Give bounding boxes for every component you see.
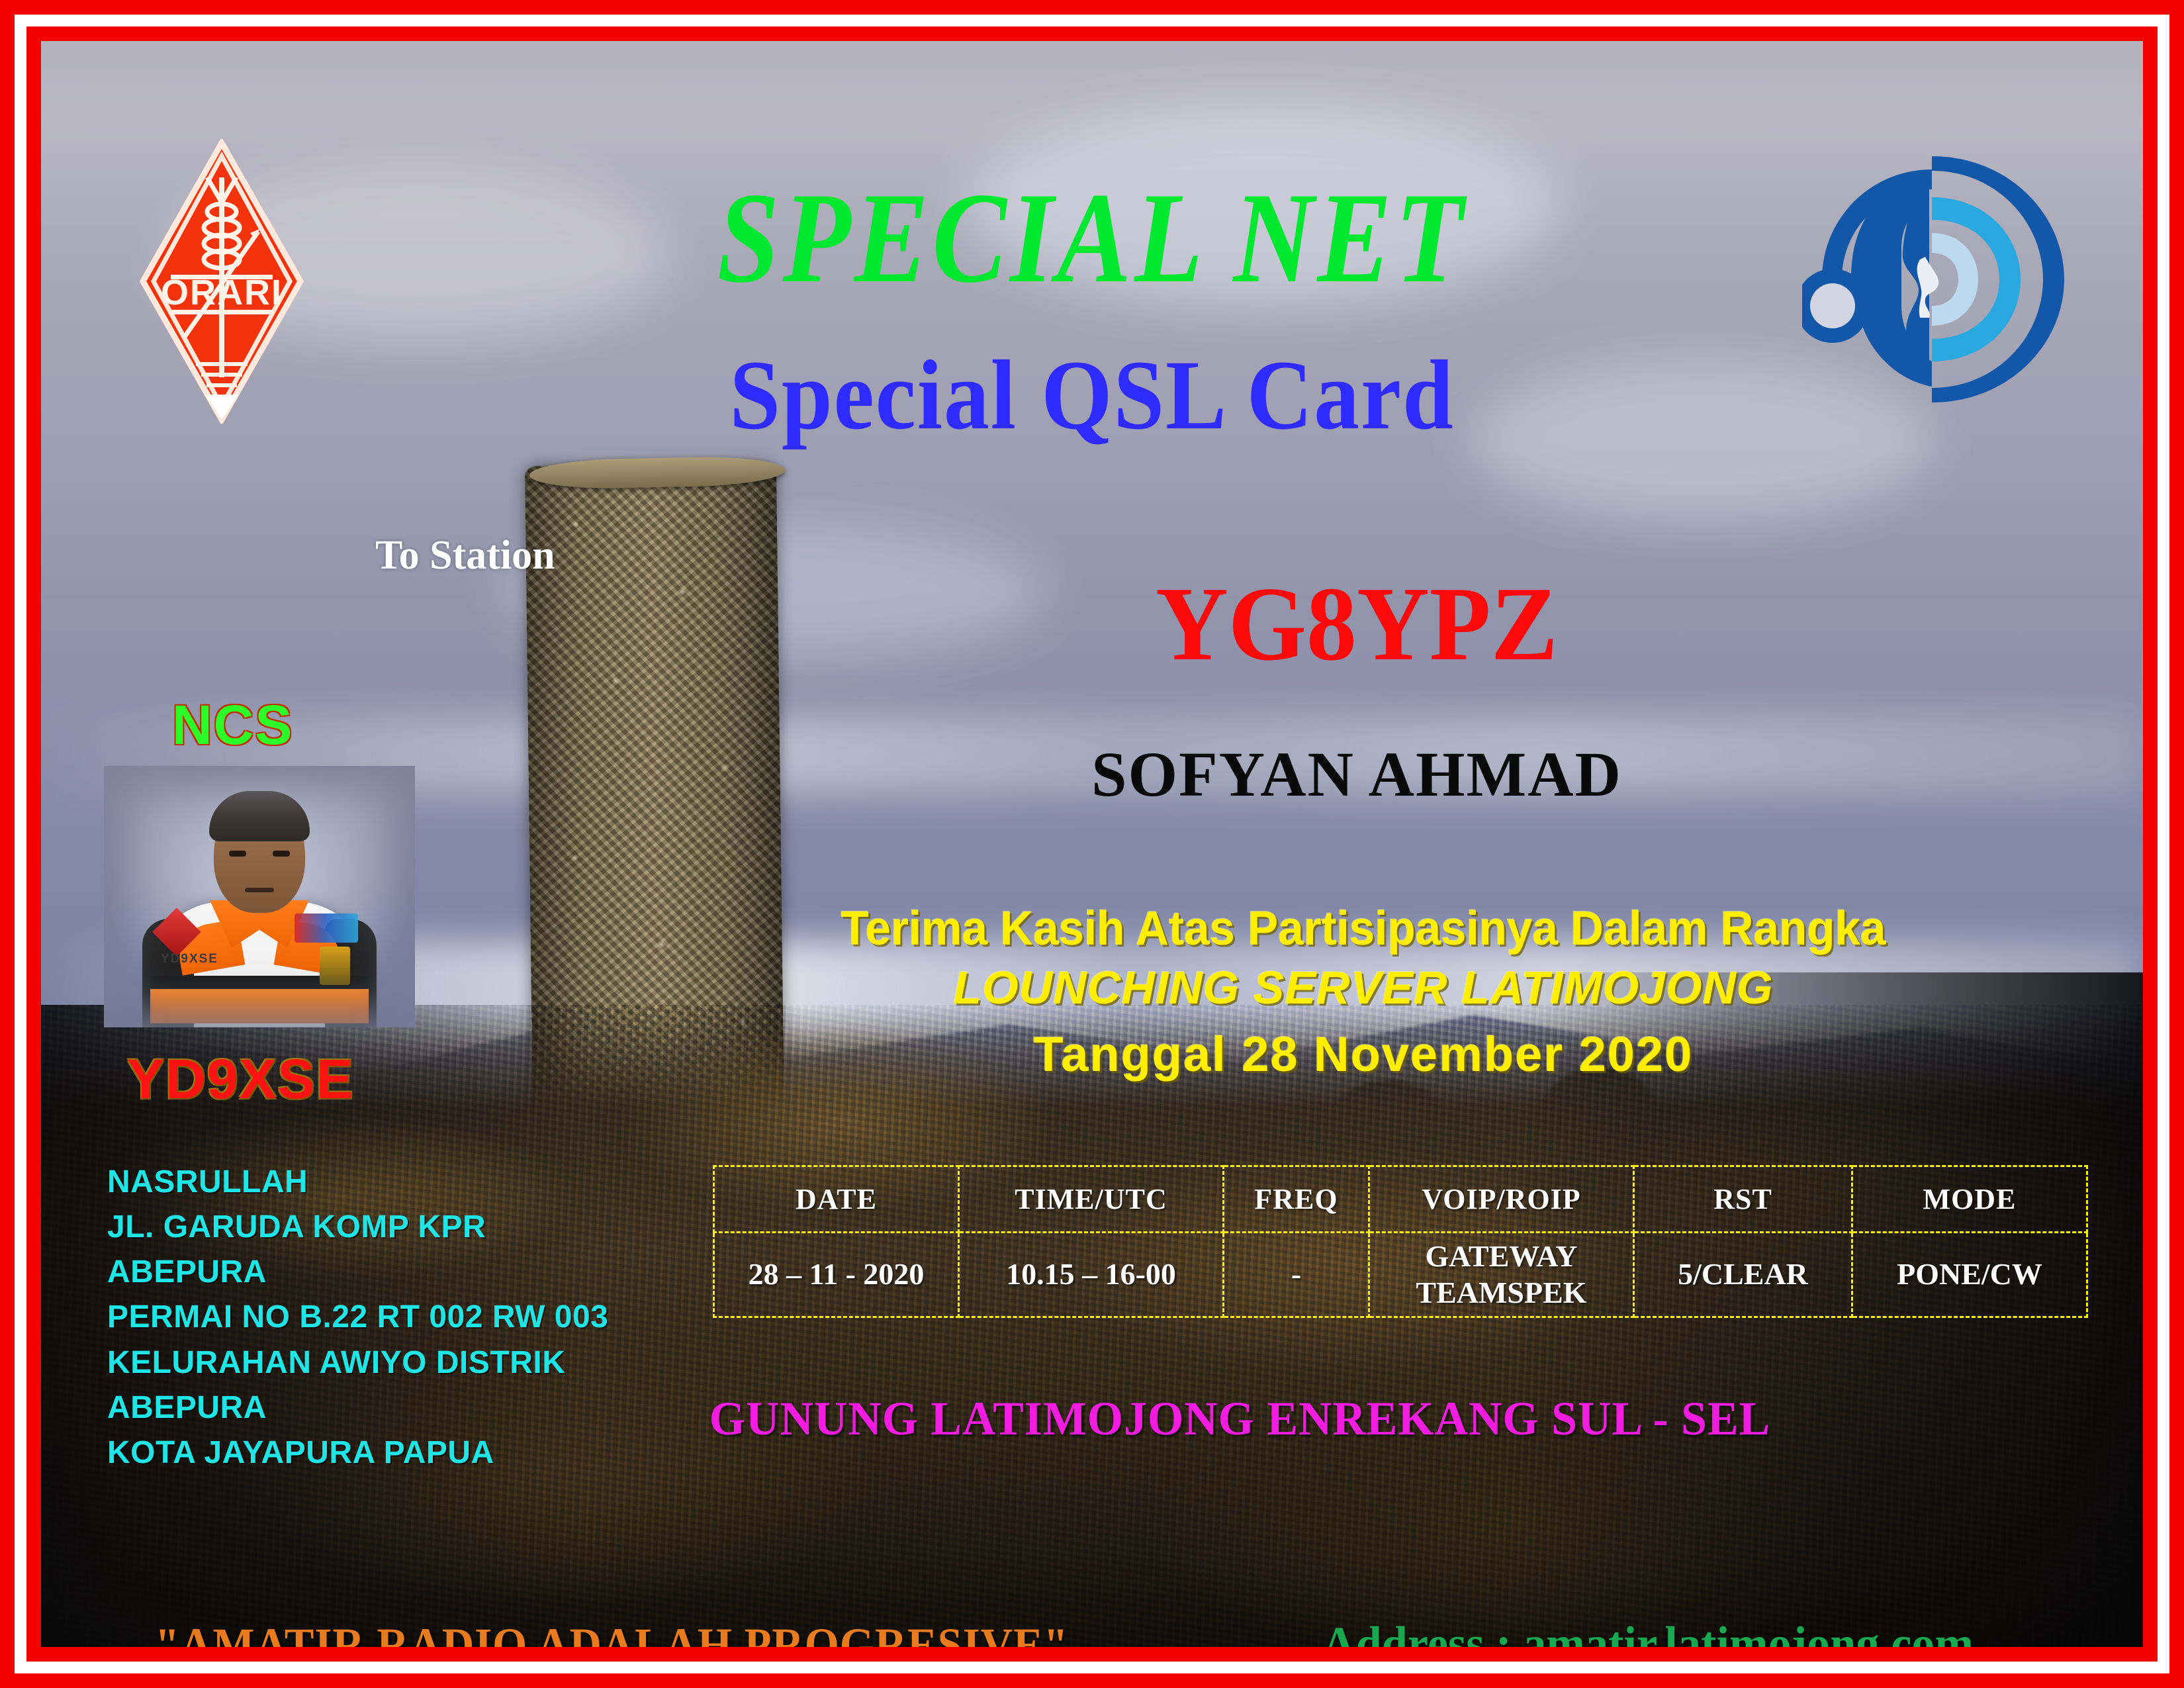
qso-header-mode: MODE <box>1852 1166 2087 1233</box>
address-line: KOTA JAYAPURA PAPUA <box>107 1430 608 1476</box>
page-title-special-net: SPECIAL NET <box>188 173 1995 303</box>
card-inner-red-frame: ORARI <box>26 26 2158 1662</box>
thanks-line-3: Tanggal 28 November 2020 <box>756 1019 1971 1090</box>
card-background-photo: ORARI <box>41 41 2143 1647</box>
address-line: NASRULLAH <box>107 1160 608 1205</box>
thanks-line-1: Terima Kasih Atas Partisipasinya Dalam R… <box>780 902 1947 957</box>
qso-cell-date: 28 – 11 - 2020 <box>714 1233 959 1317</box>
address-line: ABEPURA <box>107 1385 608 1430</box>
address-line: KELURAHAN AWIYO DISTRIK <box>107 1340 608 1385</box>
footer-slogan: "AMATIR RADIO ADALAH PROGRESIVE" <box>155 1618 1069 1647</box>
address-line: ABEPURA <box>107 1250 608 1295</box>
qso-table: DATE TIME/UTC FREQ VOIP/ROIP RST MODE 28… <box>713 1165 2088 1318</box>
qso-cell-time: 10.15 – 16-00 <box>959 1233 1224 1317</box>
address-line: JL. GARUDA KOMP KPR <box>107 1205 608 1250</box>
qso-cell-freq: - <box>1224 1233 1369 1317</box>
qso-header-freq: FREQ <box>1224 1166 1369 1233</box>
qso-cell-mode: PONE/CW <box>1852 1233 2087 1317</box>
operator-name: SOFYAN AHMAD <box>822 743 1891 806</box>
ncs-operator-photo: YD9XSE <box>104 766 415 1027</box>
qso-header-date: DATE <box>714 1166 959 1233</box>
qso-table-row: 28 – 11 - 2020 10.15 – 16-00 - GATEWAY T… <box>714 1233 2087 1317</box>
qso-cell-rst: 5/CLEAR <box>1634 1233 1852 1317</box>
qso-cell-voip-line2: TEAMSPEK <box>1370 1275 1633 1311</box>
station-callsign: YG8YPZ <box>848 571 1864 677</box>
qso-header-voip: VOIP/ROIP <box>1369 1166 1634 1233</box>
to-station-label: To Station <box>375 532 555 579</box>
card-content-layer: ORARI <box>41 41 2143 1647</box>
ncs-address-block: NASRULLAH JL. GARUDA KOMP KPR ABEPURA PE… <box>107 1160 608 1476</box>
qso-cell-voip-line1: GATEWAY <box>1370 1239 1633 1274</box>
card-white-frame: ORARI <box>15 15 2169 1673</box>
qso-header-time: TIME/UTC <box>959 1166 1224 1233</box>
qsl-card: ORARI <box>0 0 2184 1688</box>
thanks-line-2: LOUNCHING SERVER LATIMOJONG <box>756 957 1971 1019</box>
qso-table-header-row: DATE TIME/UTC FREQ VOIP/ROIP RST MODE <box>714 1166 2087 1233</box>
qso-header-rst: RST <box>1634 1166 1852 1233</box>
ncs-label: NCS <box>172 693 293 757</box>
address-line: PERMAI NO B.22 RT 002 RW 003 <box>107 1295 608 1340</box>
page-subtitle-qsl-card: Special QSL Card <box>125 346 2059 445</box>
qso-cell-voip: GATEWAY TEAMSPEK <box>1369 1233 1634 1317</box>
photo-vignette <box>104 766 415 1027</box>
location-line: GUNUNG LATIMOJONG ENREKANG SUL - SEL <box>709 1391 1770 1446</box>
footer-web-address: Address : amatir.latimojong.com <box>1322 1617 1974 1647</box>
ncs-callsign: YD9XSE <box>127 1047 355 1111</box>
thanks-block: Terima Kasih Atas Partisipasinya Dalam R… <box>756 902 1971 1090</box>
